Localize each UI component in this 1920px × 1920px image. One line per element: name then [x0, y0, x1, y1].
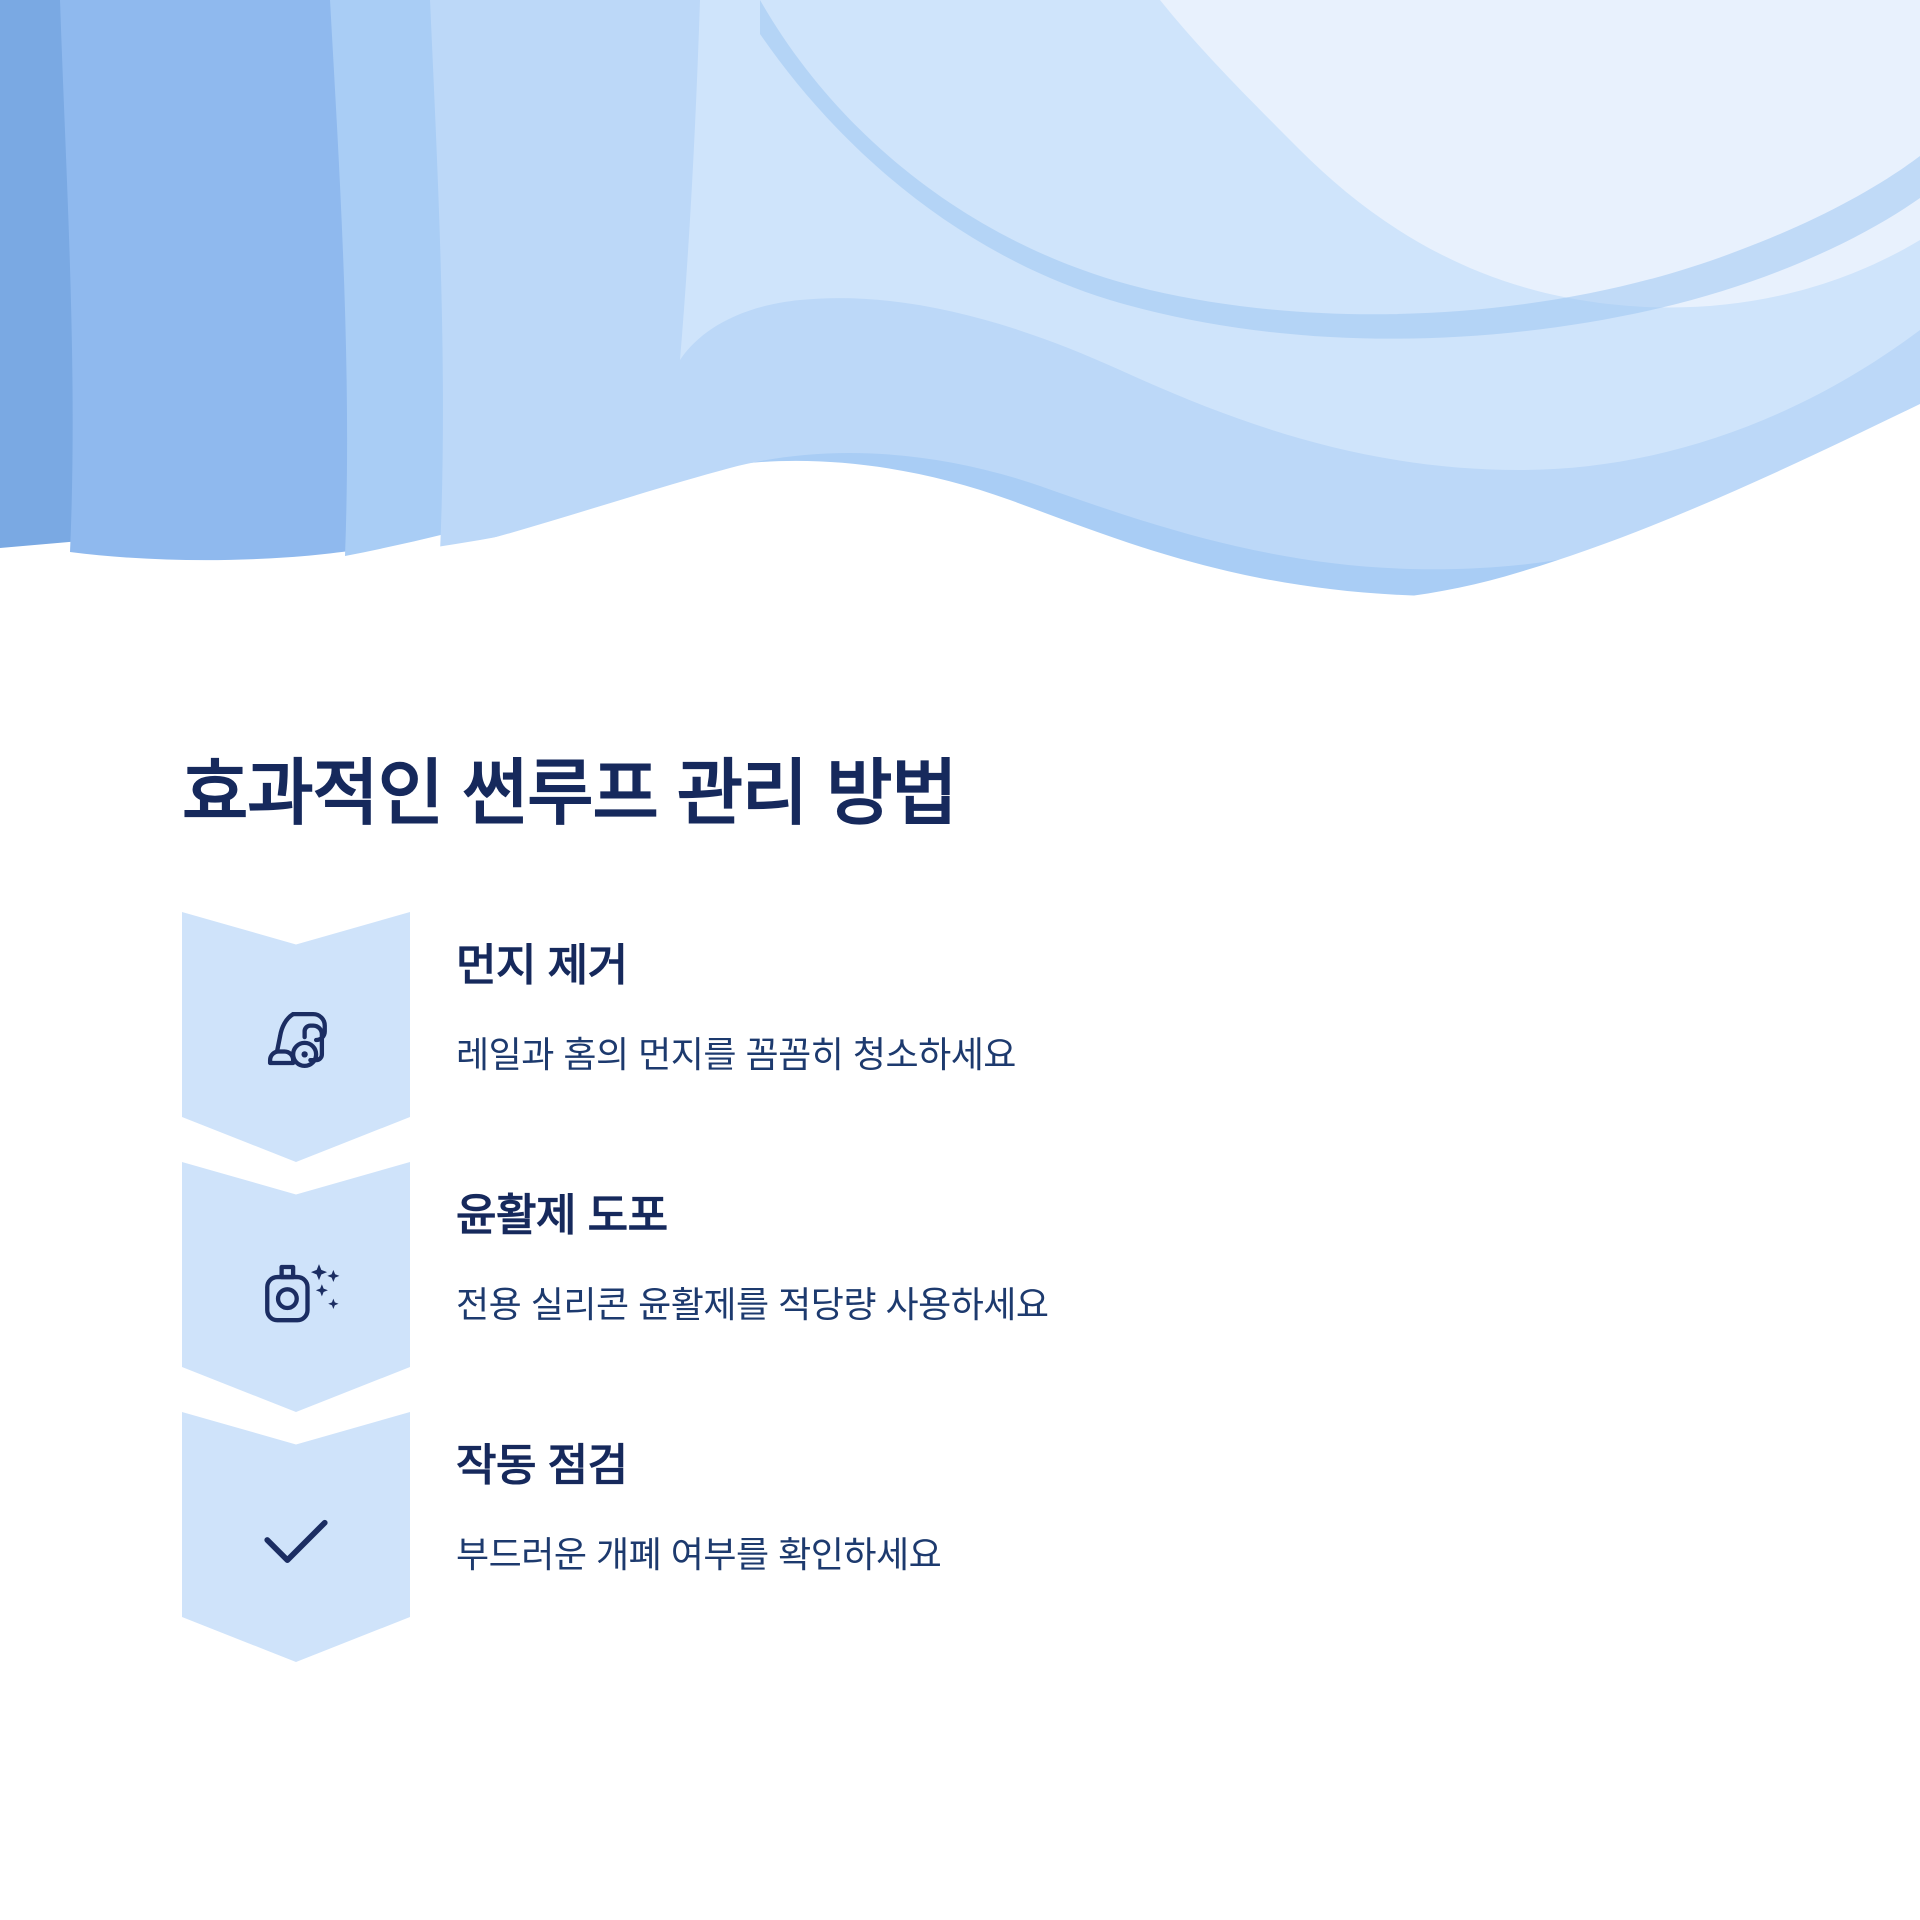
step-chevron-badge	[182, 1162, 410, 1412]
vacuum-cleaner-icon	[250, 994, 342, 1086]
step-chevron-badge	[182, 1412, 410, 1662]
step-item: 작동 점검 부드러운 개폐 여부를 확인하세요	[182, 1412, 1782, 1662]
spray-bottle-sparkle-icon	[250, 1244, 342, 1336]
step-text-block: 윤활제 도포 전용 실리콘 윤활제를 적당량 사용하세요	[456, 1190, 1736, 1329]
step-item: 먼지 제거 레일과 홈의 먼지를 꼼꼼히 청소하세요	[182, 912, 1782, 1162]
step-description: 전용 실리콘 윤활제를 적당량 사용하세요	[456, 1281, 1736, 1330]
step-title: 윤활제 도포	[456, 1190, 1736, 1243]
step-text-block: 작동 점검 부드러운 개폐 여부를 확인하세요	[456, 1440, 1736, 1579]
top-wave-decoration	[0, 0, 1920, 620]
step-text-block: 먼지 제거 레일과 홈의 먼지를 꼼꼼히 청소하세요	[456, 940, 1736, 1079]
step-description: 레일과 홈의 먼지를 꼼꼼히 청소하세요	[456, 1031, 1736, 1080]
step-item: 윤활제 도포 전용 실리콘 윤활제를 적당량 사용하세요	[182, 1162, 1782, 1412]
step-description: 부드러운 개폐 여부를 확인하세요	[456, 1531, 1736, 1580]
page-title: 효과적인 썬루프 관리 방법	[182, 752, 1682, 837]
step-title: 먼지 제거	[456, 940, 1736, 993]
checkmark-icon	[250, 1494, 342, 1586]
infographic-card: 효과적인 썬루프 관리 방법 먼지 제거 레일과 홈의 먼지를 꼼꼼히 청소하세…	[0, 0, 1920, 1920]
step-title: 작동 점검	[456, 1440, 1736, 1493]
step-chevron-badge	[182, 912, 410, 1162]
steps-list: 먼지 제거 레일과 홈의 먼지를 꼼꼼히 청소하세요 윤활제 도포 전용	[182, 912, 1782, 1662]
